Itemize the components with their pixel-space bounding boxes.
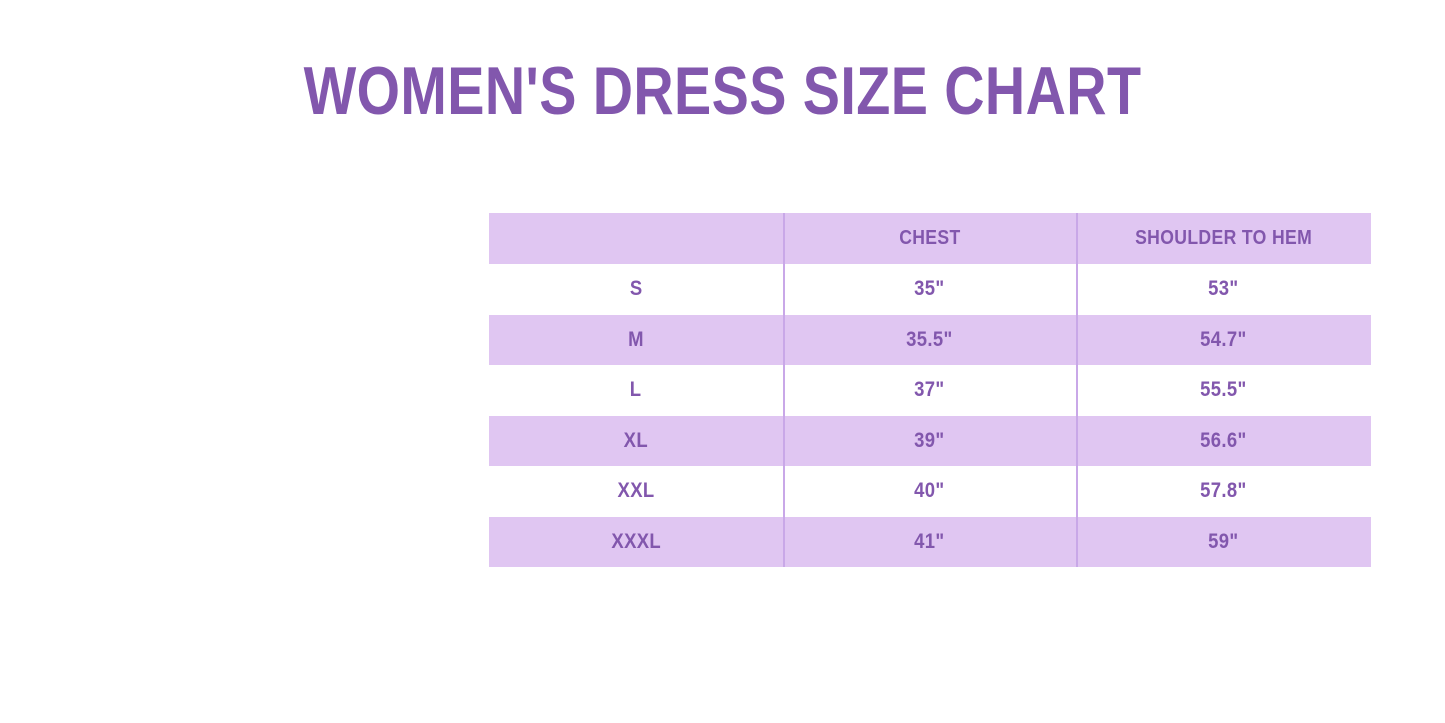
table-body: S 35" 53" M 35.5" 54.7" L 37" 55.5" XL 3… — [489, 264, 1371, 567]
cell-size: L — [489, 365, 783, 416]
cell-chest-value: 37" — [914, 378, 944, 402]
cell-chest: 35" — [783, 264, 1076, 315]
table-row: S 35" 53" — [489, 264, 1371, 315]
cell-shoulder-to-hem: 59" — [1076, 517, 1371, 568]
cell-chest-value: 41" — [914, 530, 944, 554]
cell-size-value: XXL — [617, 479, 654, 503]
cell-chest: 37" — [783, 365, 1076, 416]
column-header-shoulder-to-hem: SHOULDER TO HEM — [1076, 213, 1371, 264]
cell-size-value: S — [630, 277, 643, 301]
cell-shoulder-to-hem: 56.6" — [1076, 416, 1371, 467]
cell-shoulder-to-hem-value: 56.6" — [1200, 429, 1247, 453]
table-row: L 37" 55.5" — [489, 365, 1371, 416]
cell-chest-value: 35.5" — [906, 328, 953, 352]
column-header-chest-label: CHEST — [899, 227, 960, 250]
table-row: XXL 40" 57.8" — [489, 466, 1371, 517]
size-chart-table: CHEST SHOULDER TO HEM S 35" 53" M 35.5" … — [489, 213, 1371, 567]
cell-size-value: L — [630, 378, 642, 402]
cell-size: S — [489, 264, 783, 315]
cell-shoulder-to-hem-value: 54.7" — [1200, 328, 1247, 352]
cell-size: XXL — [489, 466, 783, 517]
cell-chest: 41" — [783, 517, 1076, 568]
cell-shoulder-to-hem-value: 53" — [1208, 277, 1238, 301]
cell-chest-value: 35" — [914, 277, 944, 301]
cell-size-value: XL — [624, 429, 648, 453]
page-title: WOMEN'S DRESS SIZE CHART — [130, 52, 1315, 130]
table-row: XL 39" 56.6" — [489, 416, 1371, 467]
column-header-chest: CHEST — [783, 213, 1076, 264]
column-header-size — [489, 213, 783, 264]
cell-shoulder-to-hem-value: 57.8" — [1200, 479, 1247, 503]
cell-chest: 40" — [783, 466, 1076, 517]
cell-size: XL — [489, 416, 783, 467]
cell-size: XXXL — [489, 517, 783, 568]
cell-chest: 39" — [783, 416, 1076, 467]
table-header-row: CHEST SHOULDER TO HEM — [489, 213, 1371, 264]
table-header: CHEST SHOULDER TO HEM — [489, 213, 1371, 264]
cell-shoulder-to-hem: 54.7" — [1076, 315, 1371, 366]
cell-shoulder-to-hem: 57.8" — [1076, 466, 1371, 517]
cell-shoulder-to-hem: 55.5" — [1076, 365, 1371, 416]
table-row: M 35.5" 54.7" — [489, 315, 1371, 366]
cell-size: M — [489, 315, 783, 366]
cell-chest: 35.5" — [783, 315, 1076, 366]
cell-shoulder-to-hem: 53" — [1076, 264, 1371, 315]
cell-shoulder-to-hem-value: 59" — [1208, 530, 1238, 554]
cell-chest-value: 39" — [914, 429, 944, 453]
cell-chest-value: 40" — [914, 479, 944, 503]
cell-size-value: XXXL — [611, 530, 661, 554]
column-header-shoulder-to-hem-label: SHOULDER TO HEM — [1135, 227, 1312, 250]
cell-size-value: M — [628, 328, 644, 352]
cell-shoulder-to-hem-value: 55.5" — [1200, 378, 1247, 402]
table-row: XXXL 41" 59" — [489, 517, 1371, 568]
